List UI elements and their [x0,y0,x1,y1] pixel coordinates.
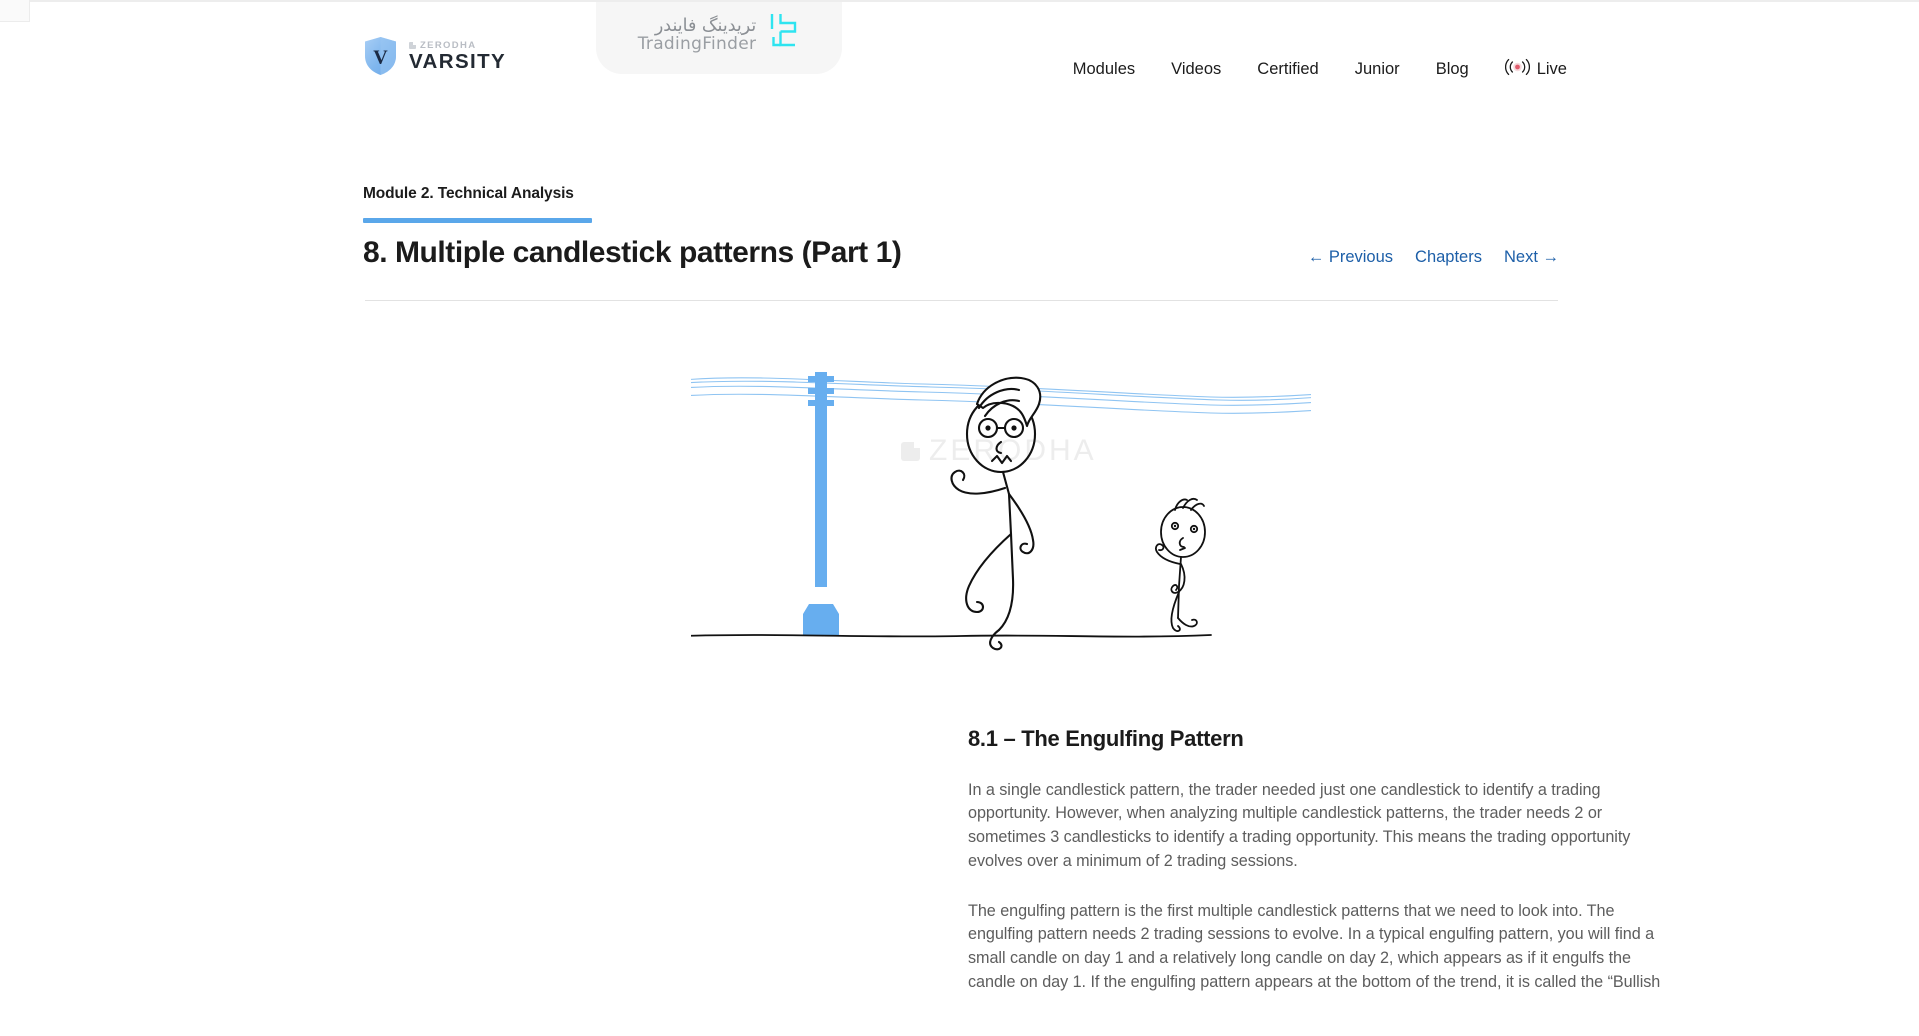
varsity-wordmark: ZERODHA VARSITY [409,40,506,73]
viewport-bottom-clip [0,996,1919,1036]
nav-item-videos[interactable]: Videos [1171,61,1221,78]
tradingfinder-badge-content: تریدینگ فایندر TradingFinder [638,11,801,60]
svg-text:ZERODHA: ZERODHA [929,434,1097,467]
chapter-illustration: ZERODHA [403,364,1599,704]
zerodha-watermark: ZERODHA [901,434,1097,467]
tradingfinder-overlay-badge: تریدینگ فایندر TradingFinder [596,0,842,74]
varsity-logo-link[interactable]: V ZERODHA VARSITY [363,36,506,76]
page-title: 8. Multiple candlestick patterns (Part 1… [363,235,901,271]
title-divider [365,300,1558,301]
zerodha-mark-icon [409,42,416,49]
tradingfinder-persian-text: تریدینگ فایندر [655,17,756,35]
broadcast-icon [1505,58,1530,80]
browser-corner-artifact [0,0,30,22]
breadcrumb-module-link[interactable]: Module 2. Technical Analysis [363,186,592,202]
chapter-header-row: 8. Multiple candlestick patterns (Part 1… [363,235,1559,271]
breadcrumb-accent-bar [363,218,592,223]
utility-pole [803,372,839,636]
zerodha-kicker: ZERODHA [409,41,506,51]
browser-top-edge [0,0,1919,2]
nav-item-live[interactable]: Live [1505,58,1567,80]
nav-item-live-label: Live [1537,61,1567,78]
svg-text:V: V [373,47,388,69]
chapter-pagination: ← Previous Chapters Next → [1308,249,1559,270]
stick-figure-child [1156,499,1205,631]
section-heading: 8.1 – The Engulfing Pattern [968,725,1668,753]
nav-item-junior[interactable]: Junior [1355,61,1400,78]
tradingfinder-logo-icon [768,11,800,60]
chapters-list-link[interactable]: Chapters [1415,249,1482,266]
varsity-name-text: VARSITY [409,52,506,73]
nav-item-certified[interactable]: Certified [1257,61,1318,78]
nav-item-modules[interactable]: Modules [1073,61,1135,78]
article-body: 8.1 – The Engulfing Pattern In a single … [968,725,1668,1019]
nav-item-blog[interactable]: Blog [1436,61,1469,78]
zerodha-kicker-text: ZERODHA [420,41,476,51]
stick-figure-adult [952,378,1041,650]
previous-chapter-link[interactable]: ← Previous [1308,249,1393,266]
breadcrumb: Module 2. Technical Analysis [363,186,592,223]
main-navigation: Modules Videos Certified Junior Blog Liv… [1073,58,1567,80]
next-chapter-link[interactable]: Next → [1504,249,1559,266]
paragraph-1: In a single candlestick pattern, the tra… [968,779,1668,874]
varsity-shield-icon: V [363,36,398,76]
tradingfinder-text: تریدینگ فایندر TradingFinder [638,17,757,53]
tradingfinder-english-text: TradingFinder [638,36,757,54]
site-header: V ZERODHA VARSITY تریدینگ فایندر Trading… [0,0,1919,108]
